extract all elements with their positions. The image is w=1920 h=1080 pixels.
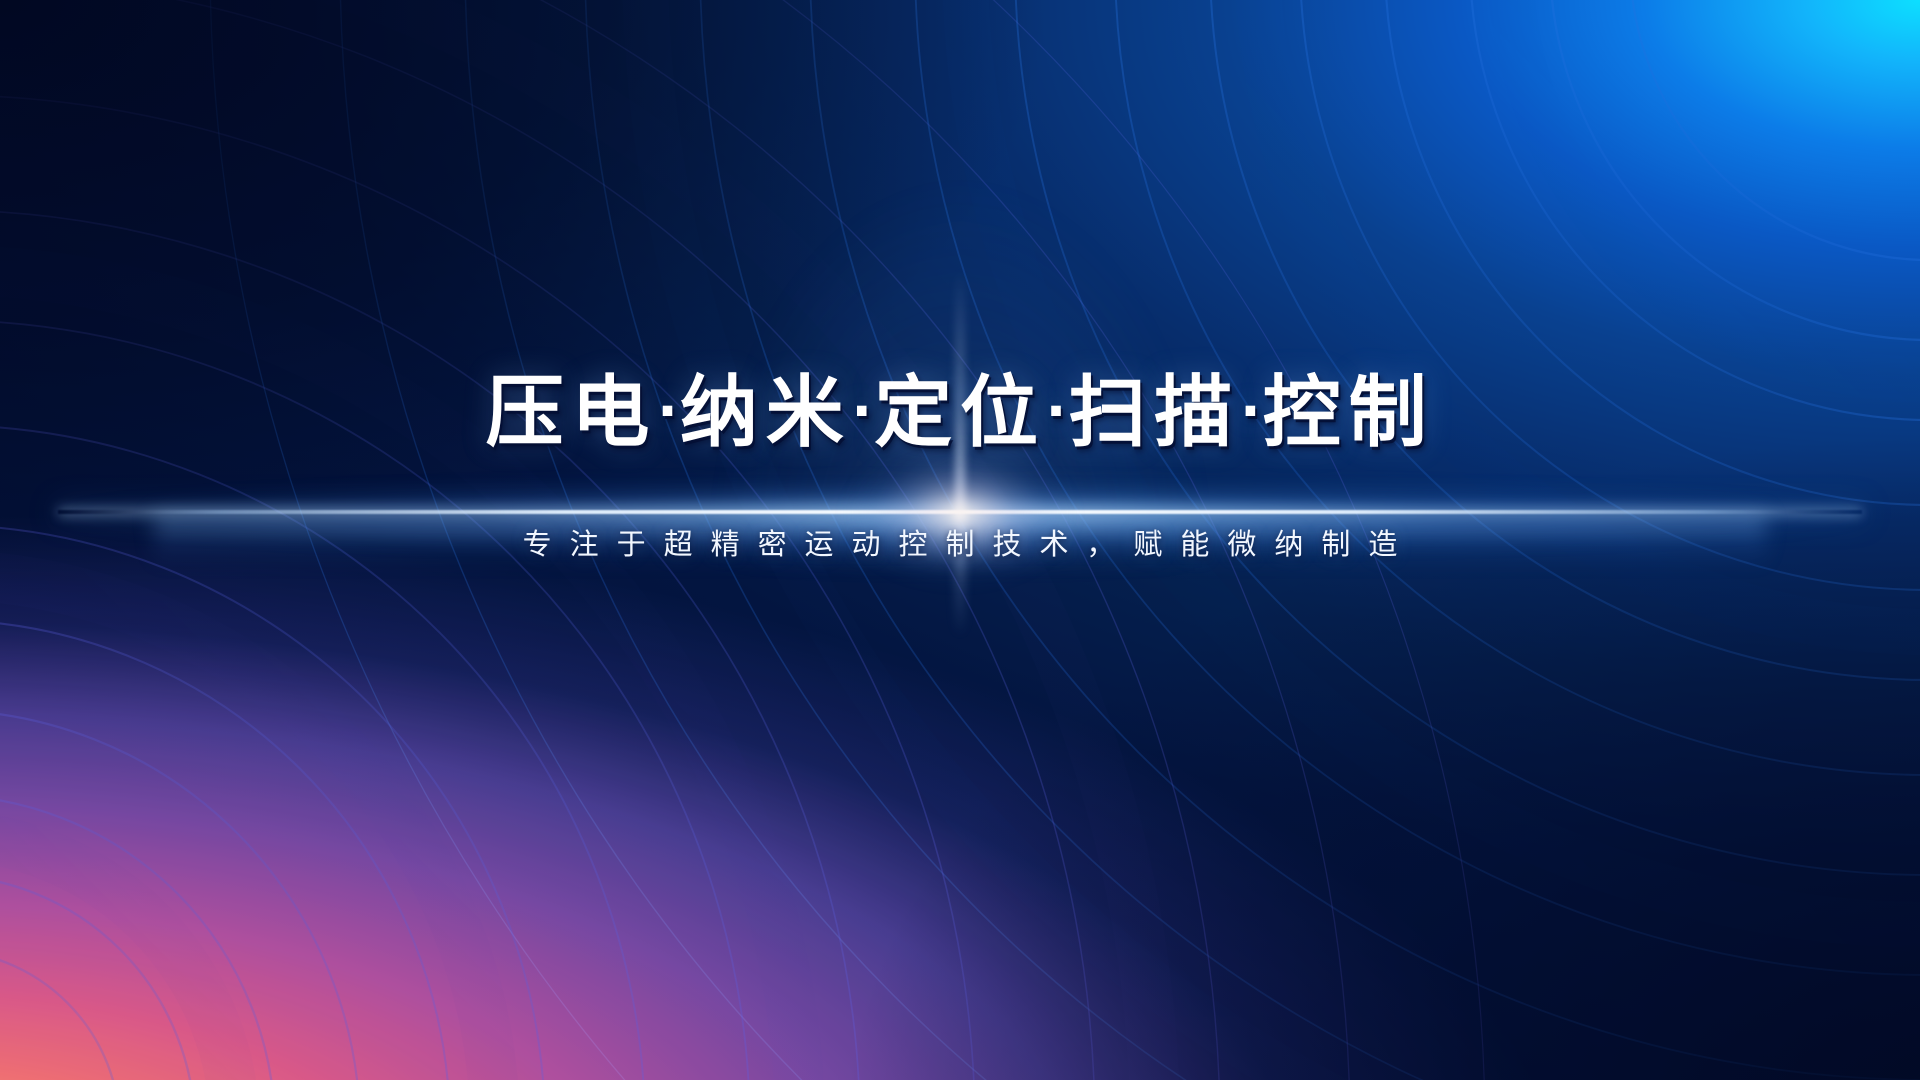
banner-content: 压电·纳米·定位·扫描·控制 专注于超精密运动控制技术，赋能微纳制造 [0, 0, 1920, 1080]
banner-canvas: 压电·纳米·定位·扫描·控制 专注于超精密运动控制技术，赋能微纳制造 [0, 0, 1920, 1080]
headline-word-5: 控制 [1263, 368, 1435, 458]
headline-word-3: 定位 [874, 368, 1046, 458]
headline-word-2: 纳米 [680, 368, 852, 458]
headline-separator-3: · [1046, 380, 1069, 443]
page-title: 压电·纳米·定位·扫描·控制 [486, 374, 1435, 452]
headline-separator-1: · [657, 380, 680, 443]
headline-word-4: 扫描 [1068, 368, 1240, 458]
headline-word-1: 压电 [486, 368, 658, 458]
page-subtitle: 专注于超精密运动控制技术，赋能微纳制造 [505, 521, 1416, 563]
headline-separator-2: · [852, 380, 875, 443]
headline-separator-4: · [1240, 380, 1263, 443]
